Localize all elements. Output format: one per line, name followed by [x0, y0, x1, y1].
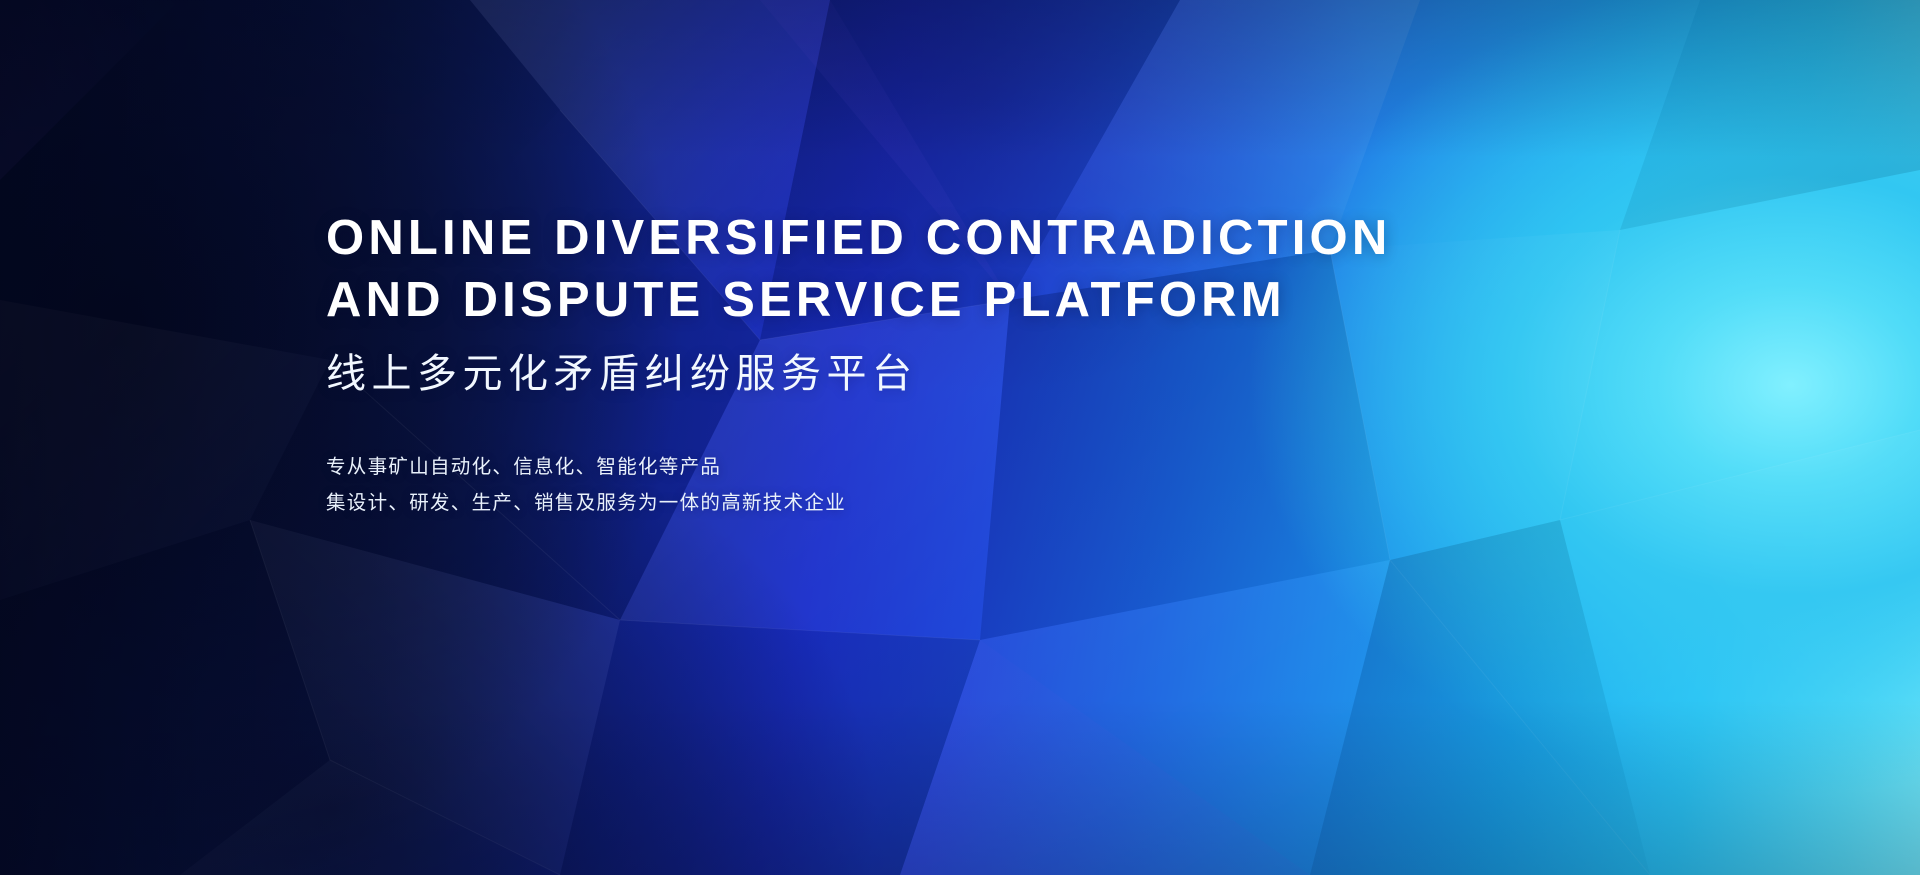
hero-banner: ONLINE DIVERSIFIED CONTRADICTION AND DIS… [0, 0, 1920, 875]
banner-subtitle: 线上多元化矛盾纠纷服务平台 [326, 349, 1726, 399]
description-line: 专从事矿山自动化、信息化、智能化等产品 [326, 449, 1726, 485]
description-line: 集设计、研发、生产、销售及服务为一体的高新技术企业 [326, 485, 1726, 521]
banner-content: ONLINE DIVERSIFIED CONTRADICTION AND DIS… [326, 207, 1726, 521]
banner-description: 专从事矿山自动化、信息化、智能化等产品 集设计、研发、生产、销售及服务为一体的高… [326, 449, 1726, 521]
banner-headline: ONLINE DIVERSIFIED CONTRADICTION AND DIS… [326, 207, 1726, 331]
